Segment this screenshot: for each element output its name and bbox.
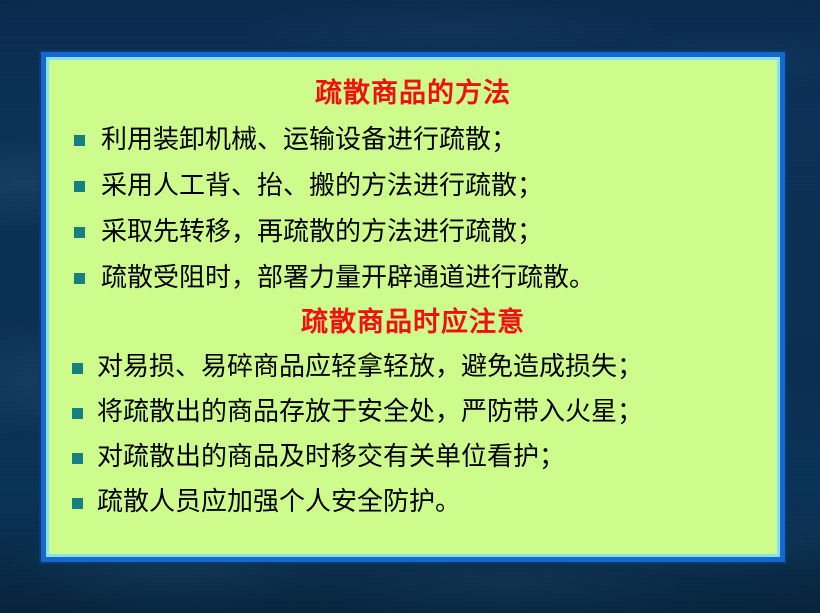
list-item: 疏散受阻时，部署力量开辟通道进行疏散。 bbox=[63, 255, 763, 301]
content-frame: 疏散商品的方法 利用装卸机械、运输设备进行疏散； 采用人工背、抬、搬的方法进行疏… bbox=[41, 52, 785, 562]
list-item-label: 疏散人员应加强个人安全防护。 bbox=[97, 480, 763, 525]
square-bullet-icon bbox=[74, 135, 85, 146]
list-item: 对疏散出的商品及时移交有关单位看护； bbox=[63, 435, 763, 480]
list-item: 对易损、易碎商品应轻拿轻放，避免造成损失； bbox=[63, 345, 763, 390]
presentation-slide: 疏散商品的方法 利用装卸机械、运输设备进行疏散； 采用人工背、抬、搬的方法进行疏… bbox=[0, 0, 820, 613]
list-item: 将疏散出的商品存放于安全处，严防带入火星； bbox=[63, 390, 763, 435]
square-bullet-icon bbox=[72, 408, 83, 419]
bullet-list-methods: 利用装卸机械、运输设备进行疏散； 采用人工背、抬、搬的方法进行疏散； 采取先转移… bbox=[63, 117, 763, 301]
section-heading-precautions: 疏散商品时应注意 bbox=[63, 309, 763, 336]
bullet-list-precautions: 对易损、易碎商品应轻拿轻放，避免造成损失； 将疏散出的商品存放于安全处，严防带入… bbox=[63, 345, 763, 525]
list-item: 采取先转移，再疏散的方法进行疏散； bbox=[63, 209, 763, 255]
square-bullet-icon bbox=[74, 181, 85, 192]
list-item-label: 对疏散出的商品及时移交有关单位看护； bbox=[97, 435, 763, 480]
square-bullet-icon bbox=[74, 227, 85, 238]
list-item: 疏散人员应加强个人安全防护。 bbox=[63, 480, 763, 525]
list-item-label: 采取先转移，再疏散的方法进行疏散； bbox=[101, 209, 763, 255]
list-item-label: 利用装卸机械、运输设备进行疏散； bbox=[101, 117, 763, 163]
list-item-label: 采用人工背、抬、搬的方法进行疏散； bbox=[101, 163, 763, 209]
square-bullet-icon bbox=[72, 363, 83, 374]
list-item-label: 将疏散出的商品存放于安全处，严防带入火星； bbox=[97, 390, 763, 435]
square-bullet-icon bbox=[72, 453, 83, 464]
list-item-label: 对易损、易碎商品应轻拿轻放，避免造成损失； bbox=[97, 345, 763, 390]
square-bullet-icon bbox=[72, 498, 83, 509]
list-item-label: 疏散受阻时，部署力量开辟通道进行疏散。 bbox=[101, 255, 763, 301]
square-bullet-icon bbox=[74, 273, 85, 284]
content-panel: 疏散商品的方法 利用装卸机械、运输设备进行疏散； 采用人工背、抬、搬的方法进行疏… bbox=[46, 57, 780, 557]
list-item: 采用人工背、抬、搬的方法进行疏散； bbox=[63, 163, 763, 209]
list-item: 利用装卸机械、运输设备进行疏散； bbox=[63, 117, 763, 163]
section-heading-methods: 疏散商品的方法 bbox=[63, 80, 763, 107]
